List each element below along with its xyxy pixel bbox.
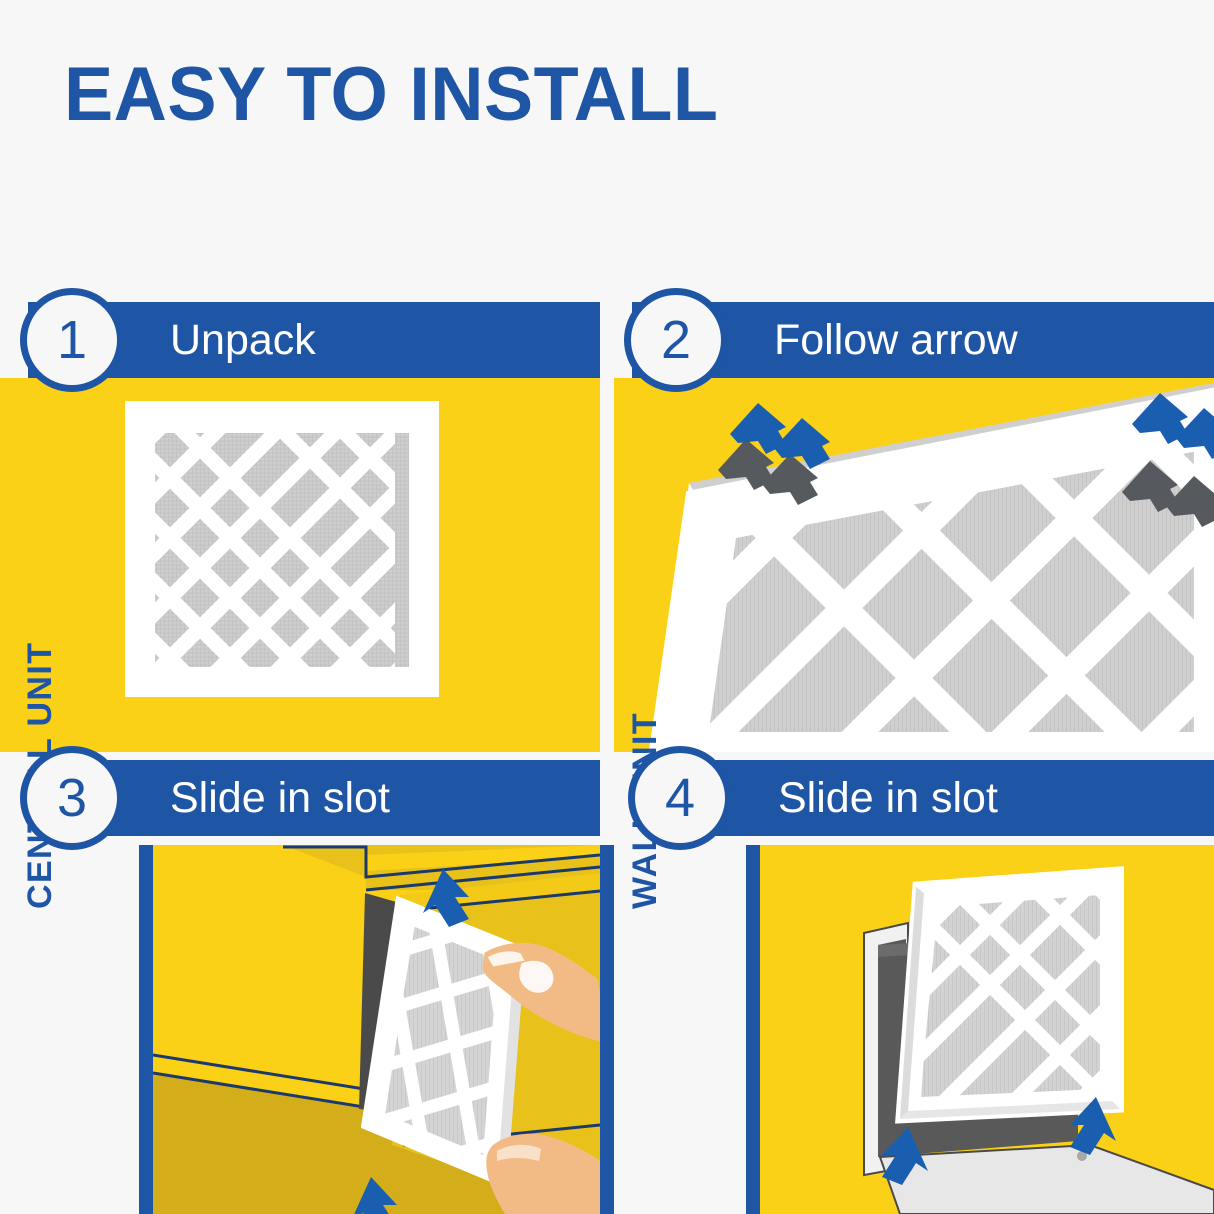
step-2-number: 2 bbox=[661, 313, 691, 367]
step-1-number: 1 bbox=[57, 313, 87, 367]
filter-front-svg bbox=[0, 378, 600, 752]
column-divider bbox=[600, 845, 614, 1214]
step-1-label: Unpack bbox=[170, 317, 316, 363]
step-3-bar: Slide in slot bbox=[90, 760, 600, 836]
central-unit-svg bbox=[153, 845, 600, 1214]
step-2-label: Follow arrow bbox=[774, 317, 1018, 363]
panel-4-left-edge bbox=[746, 845, 760, 1214]
step-4-illustration bbox=[760, 845, 1214, 1214]
step-4-number: 4 bbox=[665, 771, 695, 825]
step-4-label: Slide in slot bbox=[778, 775, 998, 821]
step-3-label: Slide in slot bbox=[170, 775, 390, 821]
step-1-illustration bbox=[0, 378, 600, 752]
filter-tilted-svg bbox=[614, 378, 1214, 752]
step-4-side-caption: WALL UNIT bbox=[626, 579, 665, 909]
step-4-badge: 4 bbox=[628, 746, 732, 850]
step-3-badge: 3 bbox=[20, 746, 124, 850]
page-title: EASY TO INSTALL bbox=[64, 52, 718, 138]
infographic-root: EASY TO INSTALL bbox=[0, 0, 1214, 1214]
step-4-bar: Slide in slot bbox=[698, 760, 1214, 836]
wall-unit-svg bbox=[760, 845, 1214, 1214]
step-2-illustration bbox=[614, 378, 1214, 752]
step-3-illustration bbox=[153, 845, 600, 1214]
panel-3-left-edge bbox=[139, 845, 153, 1214]
step-1-badge: 1 bbox=[20, 288, 124, 392]
step-3-side-caption: CENTRAL UNIT bbox=[21, 579, 60, 909]
step-2-badge: 2 bbox=[624, 288, 728, 392]
step-3-number: 3 bbox=[57, 771, 87, 825]
